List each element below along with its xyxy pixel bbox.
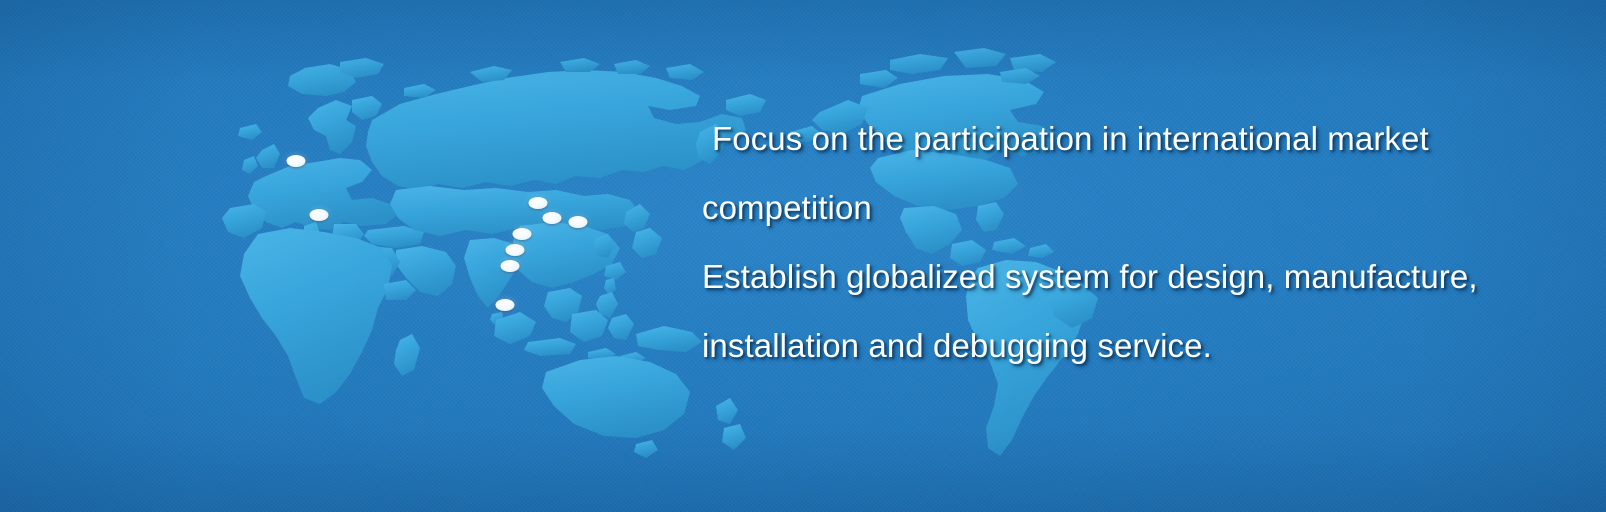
marker-northern-europe: [287, 155, 306, 167]
marker-east-china: [513, 228, 532, 240]
marker-northeast-asia: [529, 197, 548, 209]
marker-southeast-china: [501, 260, 520, 272]
banner-text-line-1: Focus on the participation in internatio…: [702, 104, 1606, 173]
banner-text-line-3: Establish globalized system for design, …: [702, 242, 1606, 311]
banner-text-line-2: competition: [702, 173, 1606, 242]
marker-south-china: [506, 244, 525, 256]
banner-text-block: Focus on the participation in internatio…: [702, 104, 1606, 380]
marker-singapore: [496, 299, 515, 311]
marker-japan-east: [569, 216, 588, 228]
global-presence-banner: Focus on the participation in internatio…: [0, 0, 1606, 512]
marker-korea-japan: [543, 212, 562, 224]
banner-text-line-4: installation and debugging service.: [702, 311, 1606, 380]
marker-southern-europe: [310, 209, 329, 221]
